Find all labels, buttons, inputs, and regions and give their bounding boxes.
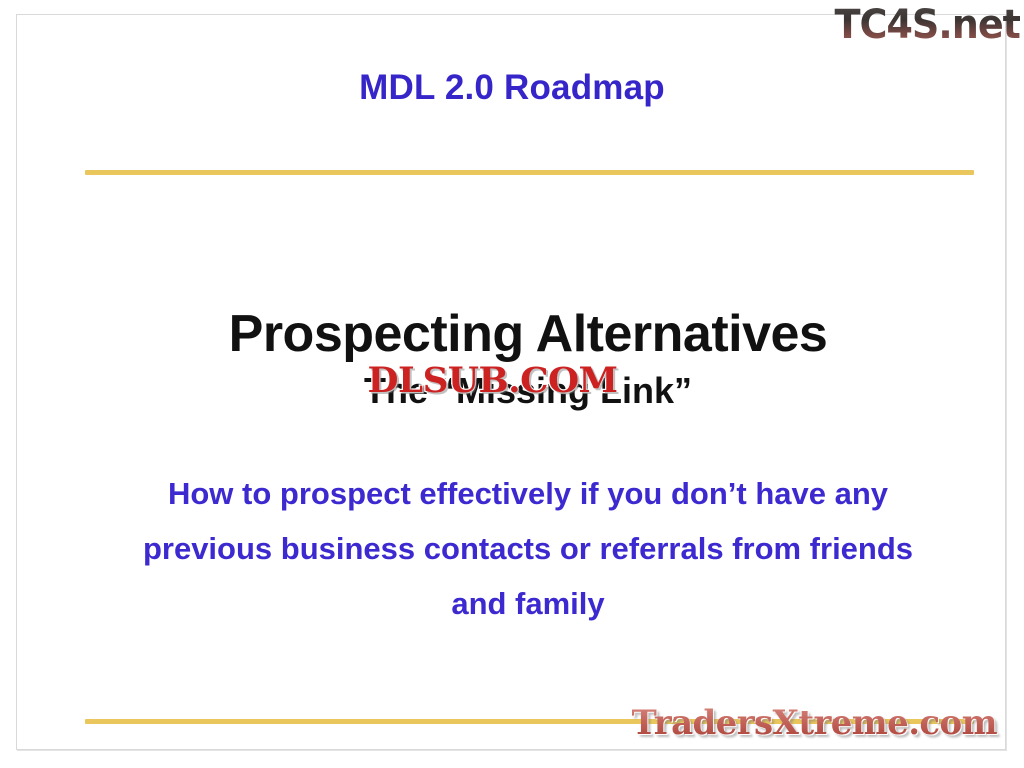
slide-headline: Prospecting Alternatives — [33, 308, 1023, 360]
slide-description: How to prospect effectively if you don’t… — [118, 467, 938, 632]
watermark-tradersxtreme: TradersXtreme.com — [632, 703, 997, 743]
watermark-dlsub: DLSUB.COM — [368, 360, 618, 401]
divider-top — [85, 170, 974, 175]
watermark-tc4s: TC4S.net — [835, 2, 1020, 48]
page-title: MDL 2.0 Roadmap — [0, 68, 1024, 108]
